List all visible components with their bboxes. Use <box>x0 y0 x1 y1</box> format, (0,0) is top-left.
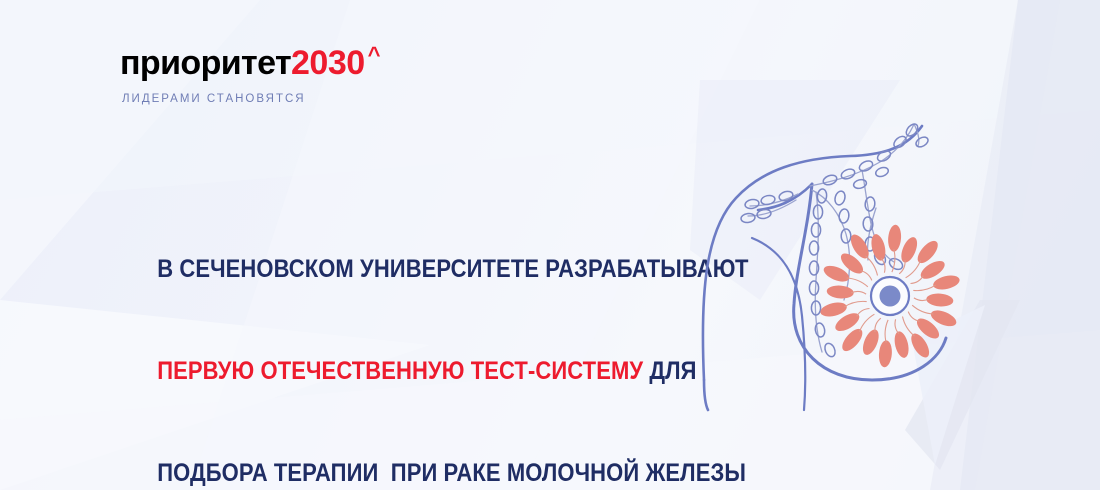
lymph-node <box>744 198 759 209</box>
lymph-node <box>822 173 838 186</box>
gland-lobule <box>932 273 961 292</box>
gland-duct <box>903 317 915 337</box>
lymph-node <box>874 166 889 178</box>
promo-banner: приоритет2030^ лидерами становятся В СЕЧ… <box>0 0 1100 490</box>
lymph-node <box>760 194 776 206</box>
logo-word-primary: приоритет <box>120 46 291 80</box>
headline-segment-plain: В СЕЧЕНОВСКОМ УНИВЕРСИТЕТЕ РАЗРАБАТЫВАЮТ <box>157 255 748 283</box>
headline-line-3: ПОДБОРА ТЕРАПИИ ПРИ РАКЕ МОЛОЧНОЙ ЖЕЛЕЗЫ <box>120 422 648 490</box>
headline-line-2: ПЕРВУЮ ОТЕЧЕСТВЕННУЮ ТЕСТ-СИСТЕМУ ДЛЯ <box>120 320 648 422</box>
gland-lobule <box>926 293 954 308</box>
nipple-icon <box>880 286 901 307</box>
headline-block: В СЕЧЕНОВСКОМ УНИВЕРСИТЕТЕ РАЗРАБАТЫВАЮТ… <box>120 218 720 490</box>
gland-lobule <box>819 300 848 319</box>
logo-word-year: 2030 <box>291 46 365 80</box>
brand-logo[interactable]: приоритет2030^ лидерами становятся <box>120 46 540 105</box>
nipple-group <box>871 277 909 315</box>
gland-duct <box>913 285 935 291</box>
lymph-node <box>904 122 920 138</box>
logo-caret-icon: ^ <box>368 44 380 66</box>
gland-duct <box>844 301 866 307</box>
lymph-node <box>840 167 856 180</box>
lymph-node <box>740 213 755 224</box>
arm-outer-outline <box>704 380 708 410</box>
arm-inner-outline <box>752 238 805 410</box>
headline-segment-plain-2: ДЛЯ <box>643 357 696 385</box>
lymph-node <box>914 135 929 149</box>
anatomy-svg <box>690 80 1010 410</box>
lymph-node <box>823 342 837 359</box>
logo-tagline: лидерами становятся <box>122 93 540 105</box>
logo-wordmark: приоритет2030^ <box>120 46 540 80</box>
lymph-node <box>811 223 820 237</box>
gland-duct <box>906 260 921 278</box>
gland-lobule <box>898 235 920 265</box>
gland-lobule <box>860 327 882 357</box>
lymph-node <box>809 281 818 295</box>
headline-segment-plain-3: ПОДБОРА ТЕРАПИИ ПРИ РАКЕ МОЛОЧНОЙ ЖЕЛЕЗЫ <box>157 459 746 487</box>
lymph-node <box>833 190 846 206</box>
gland-duct <box>912 305 933 314</box>
gland-lobule <box>892 330 911 359</box>
gland-lobule <box>887 224 902 252</box>
lymph-node <box>838 208 849 223</box>
gland-duct <box>885 320 888 343</box>
gland-duct <box>859 314 874 332</box>
breast-anatomy-illustration <box>690 80 1010 410</box>
headline-segment-accent: ПЕРВУЮ ОТЕЧЕСТВЕННУЮ ТЕСТ-СИСТЕМУ <box>157 357 643 385</box>
headline-line-1: В СЕЧЕНОВСКОМ УНИВЕРСИТЕТЕ РАЗРАБАТЫВАЮТ <box>120 218 648 320</box>
lymph-node <box>814 322 825 337</box>
gland-duct <box>847 278 868 287</box>
gland-lobule <box>826 285 854 300</box>
gland-lobule <box>878 340 893 368</box>
